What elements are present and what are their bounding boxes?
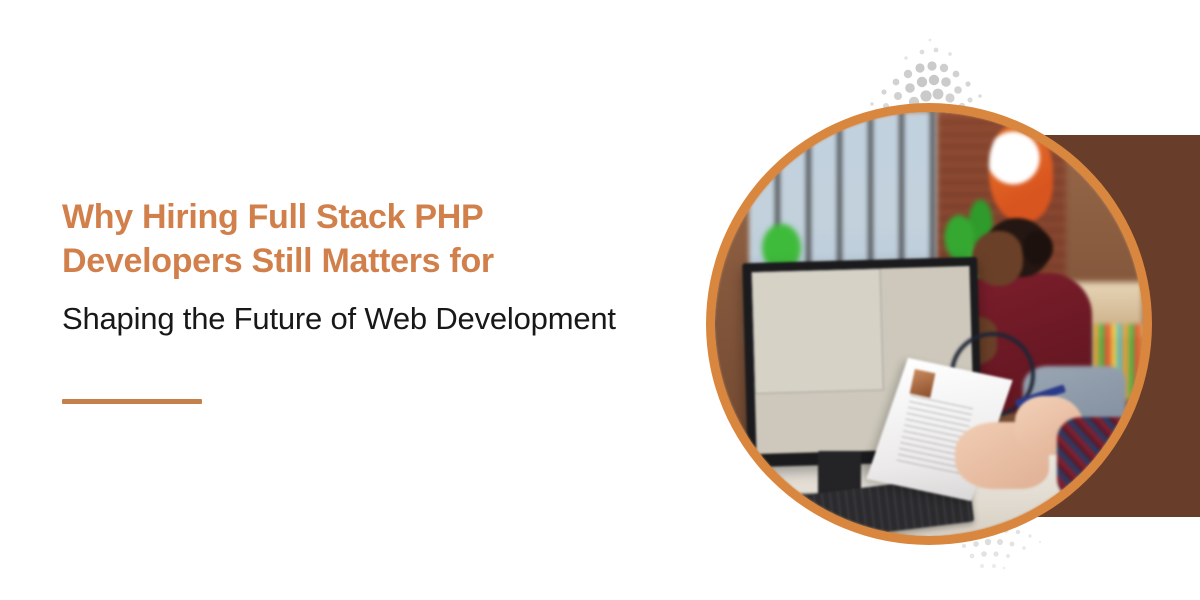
office-photo (715, 112, 1143, 536)
photo-code-window (751, 268, 883, 394)
circular-photo-frame (706, 103, 1152, 545)
title-divider-rule (62, 399, 202, 404)
hero-banner: Why Hiring Full Stack PHP Developers Sti… (0, 0, 1200, 600)
page-title-accent: Why Hiring Full Stack PHP Developers Sti… (62, 196, 632, 283)
photo-person-back-hair-bun (1023, 231, 1053, 265)
photo-person-back-face (972, 231, 1023, 286)
hero-text-block: Why Hiring Full Stack PHP Developers Sti… (62, 196, 632, 340)
page-title-subline: Shaping the Future of Web Development (62, 283, 632, 340)
photo-person-front-plaid-sleeve (1057, 417, 1143, 502)
